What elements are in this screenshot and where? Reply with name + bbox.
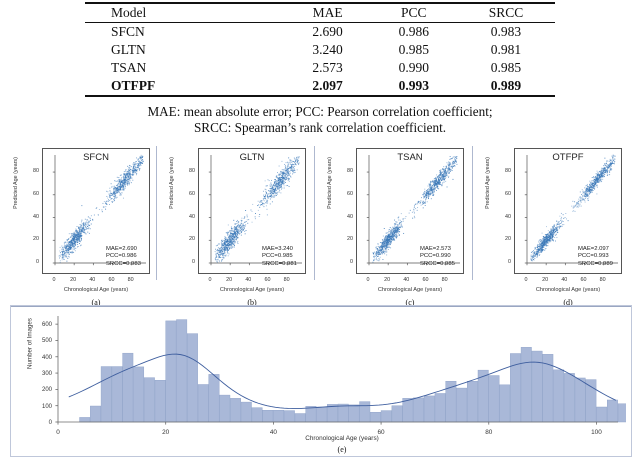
cell-pcc: 0.985: [371, 41, 457, 59]
histogram-bar: [553, 370, 563, 422]
column-header-model: Model: [85, 3, 284, 23]
histogram-bar: [370, 412, 380, 422]
histogram-subcaption: (e): [58, 445, 626, 454]
column-header-pcc: PCC: [371, 3, 457, 23]
scatter-x-tick: 40: [557, 277, 571, 283]
histogram-bar: [90, 406, 100, 422]
table-row: TSAN2.5730.9900.985: [85, 59, 555, 77]
histogram-bar: [360, 402, 370, 422]
histogram-bar: [101, 367, 111, 422]
histogram-bar: [176, 320, 186, 422]
scatter-y-tick: 20: [495, 236, 511, 242]
histogram-x-tick: 80: [479, 429, 499, 436]
scatter-x-tick: 40: [241, 277, 255, 283]
histogram-bar: [607, 400, 617, 422]
metric-line: PCC=0.985: [262, 253, 297, 260]
panel-separator: [314, 146, 315, 280]
metric-line: SRCC=0.983: [106, 261, 141, 268]
histogram-bar: [284, 411, 294, 422]
scatter-panel-gltn: Predicted Age (years)GLTN002020404060608…: [160, 146, 312, 311]
histogram-y-tick: 600: [26, 322, 52, 328]
cell-mae: 2.573: [284, 59, 370, 77]
histogram-x-tick: 0: [48, 429, 68, 436]
metric-line: PCC=0.993: [578, 253, 613, 260]
scatter-x-tick: 60: [104, 277, 118, 283]
histogram-bar: [144, 378, 154, 422]
table-caption: MAE: mean absolute error; PCC: Pearson c…: [0, 104, 640, 135]
scatter-y-tick: 20: [23, 236, 39, 242]
histogram-bar: [392, 406, 402, 422]
scatter-y-tick: 40: [337, 214, 353, 220]
histogram-bar: [575, 378, 585, 422]
scatter-metrics-annotation: MAE=2.573PCC=0.990SRCC=0.985: [420, 246, 455, 268]
scatter-panel-title: GLTN: [198, 152, 306, 163]
scatter-y-tick: 0: [179, 259, 195, 265]
histogram-x-tick: 40: [263, 429, 283, 436]
panel-separator: [472, 146, 473, 280]
scatter-x-tick: 80: [280, 277, 294, 283]
histogram-y-tick: 400: [26, 355, 52, 361]
table-body: SFCN2.6900.9860.983GLTN3.2400.9850.981TS…: [85, 23, 555, 97]
scatter-y-axis-label: Predicted Age (years): [485, 145, 491, 221]
metric-line: SRCC=0.989: [578, 261, 613, 268]
scatter-panel-sfcn: Predicted Age (years)SFCN002020404060608…: [4, 146, 156, 311]
histogram-bar: [155, 380, 165, 422]
column-header-srcc: SRCC: [457, 3, 555, 23]
metric-line: MAE=2.573: [420, 246, 455, 253]
metric-line: SRCC=0.981: [262, 261, 297, 268]
histogram-y-tick: 100: [26, 404, 52, 410]
histogram-bar: [521, 347, 531, 422]
scatter-y-tick: 80: [495, 168, 511, 174]
histogram-bar: [230, 398, 240, 422]
histogram-bar: [586, 380, 596, 422]
scatter-y-axis-label: Predicted Age (years): [327, 145, 333, 221]
scatter-y-tick: 40: [23, 214, 39, 220]
histogram-bar: [338, 404, 348, 422]
cell-srcc: 0.983: [457, 23, 555, 42]
histogram-bar: [381, 411, 391, 422]
scatter-x-tick: 20: [380, 277, 394, 283]
scatter-y-tick: 60: [179, 191, 195, 197]
cell-srcc: 0.989: [457, 77, 555, 96]
histogram-bar: [403, 398, 413, 422]
histogram-bar: [166, 321, 176, 422]
scatter-y-tick: 20: [179, 236, 195, 242]
histogram-bar: [273, 410, 283, 422]
histogram-bar: [413, 398, 423, 422]
cell-mae: 3.240: [284, 41, 370, 59]
histogram-bar: [618, 404, 626, 422]
histogram-y-tick: 300: [26, 371, 52, 377]
histogram-bar: [500, 385, 510, 422]
histogram-y-tick: 0: [26, 420, 52, 426]
histogram-bar: [263, 410, 273, 422]
cell-model: OTFPF: [85, 77, 284, 96]
histogram-bar: [123, 353, 133, 422]
metric-line: PCC=0.986: [106, 253, 141, 260]
scatter-panel-title: SFCN: [42, 152, 150, 163]
histogram-x-tick: 60: [371, 429, 391, 436]
scatter-x-tick: 40: [399, 277, 413, 283]
scatter-y-tick: 80: [23, 168, 39, 174]
scatter-y-axis-label: Predicted Age (years): [169, 145, 175, 221]
scatter-y-tick: 0: [495, 259, 511, 265]
scatter-x-tick: 20: [538, 277, 552, 283]
histogram-bar: [112, 367, 122, 422]
scatter-x-axis-label: Chronological Age (years): [514, 287, 622, 293]
column-header-mae: MAE: [284, 3, 370, 23]
scatter-x-tick: 0: [361, 277, 375, 283]
cell-mae: 2.097: [284, 77, 370, 96]
scatter-y-tick: 60: [23, 191, 39, 197]
histogram-svg: [22, 312, 626, 432]
age-distribution-histogram: Number of Images Chronological Age (year…: [22, 312, 632, 459]
histogram-bar: [467, 381, 477, 422]
scatter-x-tick: 80: [124, 277, 138, 283]
histogram-y-tick: 200: [26, 387, 52, 393]
histogram-x-axis-label: Chronological Age (years): [58, 435, 626, 442]
histogram-bar: [187, 334, 197, 422]
table-row: OTFPF2.0970.9930.989: [85, 77, 555, 96]
scatter-x-tick: 0: [519, 277, 533, 283]
histogram-bar: [596, 407, 606, 422]
table-row: GLTN3.2400.9850.981: [85, 41, 555, 59]
scatter-x-axis-label: Chronological Age (years): [198, 287, 306, 293]
scatter-metrics-annotation: MAE=3.240PCC=0.985SRCC=0.981: [262, 246, 297, 268]
metric-line: SRCC=0.985: [420, 261, 455, 268]
scatter-y-tick: 40: [495, 214, 511, 220]
scatter-x-axis-label: Chronological Age (years): [42, 287, 150, 293]
histogram-bar: [295, 414, 305, 422]
scatter-x-tick: 20: [222, 277, 236, 283]
figure-root: Model MAE PCC SRCC SFCN2.6900.9860.983GL…: [0, 0, 640, 459]
histogram-bar: [209, 374, 219, 422]
cell-pcc: 0.986: [371, 23, 457, 42]
table-header-row: Model MAE PCC SRCC: [85, 3, 555, 23]
cell-srcc: 0.981: [457, 41, 555, 59]
cell-model: SFCN: [85, 23, 284, 42]
scatter-x-tick: 40: [85, 277, 99, 283]
results-table: Model MAE PCC SRCC SFCN2.6900.9860.983GL…: [85, 2, 555, 97]
histogram-bar: [252, 408, 262, 422]
scatter-panel-otfpf: Predicted Age (years)OTFPF00202040406060…: [476, 146, 628, 311]
results-table-container: Model MAE PCC SRCC SFCN2.6900.9860.983GL…: [85, 2, 555, 97]
histogram-bar: [349, 405, 359, 422]
scatter-y-tick: 0: [23, 259, 39, 265]
histogram-bar: [198, 384, 208, 422]
scatter-y-axis-label: Predicted Age (years): [13, 145, 19, 221]
cell-mae: 2.690: [284, 23, 370, 42]
scatter-y-tick: 60: [495, 191, 511, 197]
cell-srcc: 0.985: [457, 59, 555, 77]
scatter-x-tick: 60: [418, 277, 432, 283]
histogram-bar: [306, 406, 316, 422]
scatter-panel-title: OTFPF: [514, 152, 622, 163]
scatter-y-tick: 80: [337, 168, 353, 174]
scatter-metrics-annotation: MAE=2.690PCC=0.986SRCC=0.983: [106, 246, 141, 268]
metric-line: PCC=0.990: [420, 253, 455, 260]
scatter-panel-tsan: Predicted Age (years)TSAN002020404060608…: [318, 146, 470, 311]
histogram-bar: [220, 395, 230, 422]
histogram-bar: [241, 402, 251, 422]
metric-line: MAE=2.690: [106, 246, 141, 253]
scatter-panel-title: TSAN: [356, 152, 464, 163]
caption-line-1: MAE: mean absolute error; PCC: Pearson c…: [0, 104, 640, 120]
histogram-bar: [489, 376, 499, 422]
scatter-x-tick: 60: [576, 277, 590, 283]
scatter-x-tick: 80: [596, 277, 610, 283]
histogram-x-tick: 100: [586, 429, 606, 436]
scatter-y-tick: 80: [179, 168, 195, 174]
scatter-x-tick: 60: [260, 277, 274, 283]
metric-line: MAE=2.097: [578, 246, 613, 253]
histogram-x-tick: 20: [156, 429, 176, 436]
scatter-y-tick: 60: [337, 191, 353, 197]
panel-separator: [156, 146, 157, 280]
histogram-bar: [80, 417, 90, 422]
scatter-panel-row: Predicted Age (years)SFCN002020404060608…: [0, 146, 640, 311]
histogram-bar: [424, 396, 434, 422]
cell-pcc: 0.993: [371, 77, 457, 96]
histogram-bars: [80, 320, 626, 422]
scatter-x-tick: 0: [47, 277, 61, 283]
caption-line-2: SRCC: Spearman’s rank correlation coeffi…: [0, 120, 640, 136]
scatter-y-tick: 20: [337, 236, 353, 242]
histogram-bar: [133, 367, 143, 422]
scatter-y-tick: 40: [179, 214, 195, 220]
table-row: SFCN2.6900.9860.983: [85, 23, 555, 42]
scatter-x-tick: 0: [203, 277, 217, 283]
histogram-bar: [435, 393, 445, 422]
cell-pcc: 0.990: [371, 59, 457, 77]
cell-model: GLTN: [85, 41, 284, 59]
cell-model: TSAN: [85, 59, 284, 77]
histogram-bar: [564, 373, 574, 422]
scatter-x-tick: 80: [438, 277, 452, 283]
scatter-x-tick: 20: [66, 277, 80, 283]
metric-line: MAE=3.240: [262, 246, 297, 253]
histogram-bar: [316, 407, 326, 422]
scatter-x-axis-label: Chronological Age (years): [356, 287, 464, 293]
histogram-bar: [456, 388, 466, 422]
histogram-y-tick: 500: [26, 338, 52, 344]
scatter-y-tick: 0: [337, 259, 353, 265]
scatter-metrics-annotation: MAE=2.097PCC=0.993SRCC=0.989: [578, 246, 613, 268]
